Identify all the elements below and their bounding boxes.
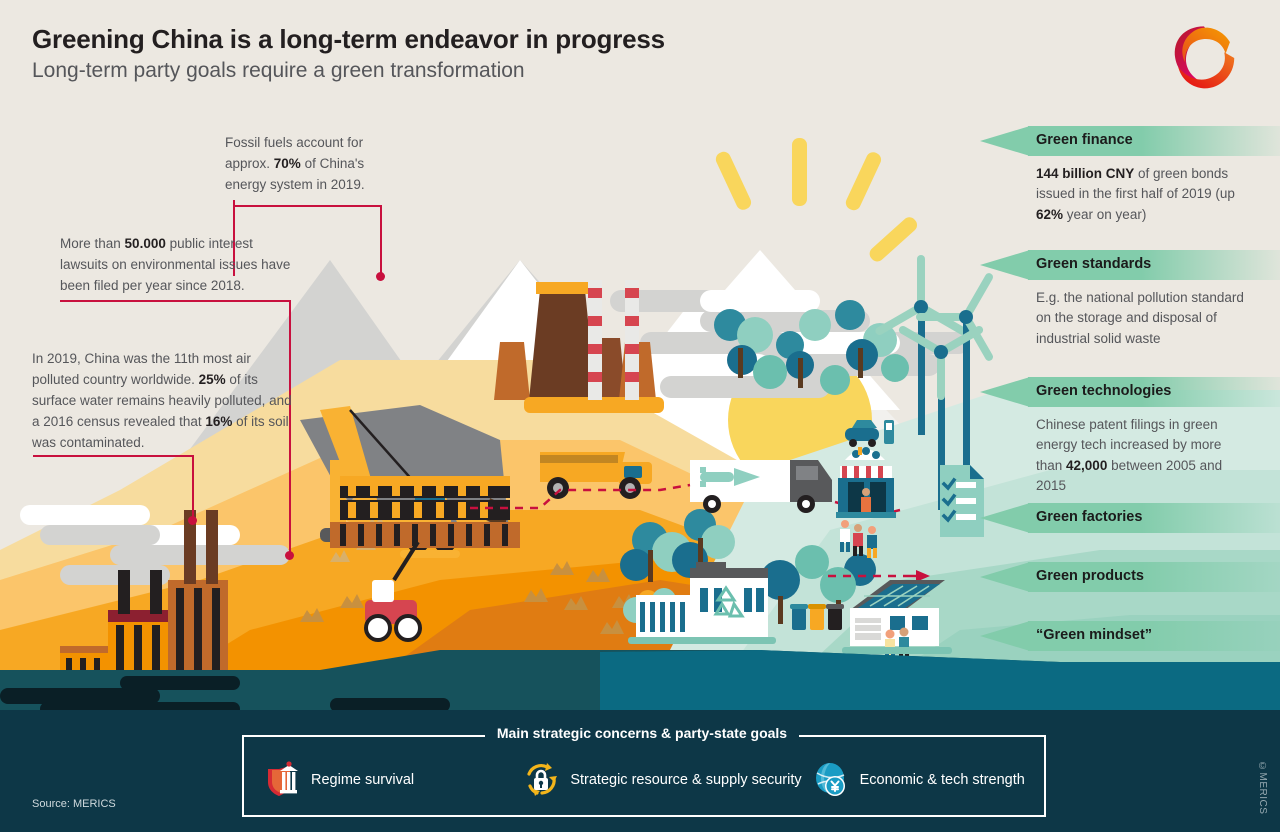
copyright-label: ©MERICS bbox=[1257, 761, 1268, 814]
panel-body: 144 billion CNY of green bonds issued in… bbox=[1036, 164, 1248, 225]
panel-green-factories[interactable]: Green factories bbox=[980, 503, 1280, 533]
leader-dot-3 bbox=[188, 516, 197, 525]
leader-line-1c bbox=[380, 205, 382, 277]
legend-item-resource-security[interactable]: Strategic resource & supply security bbox=[521, 760, 810, 800]
lock-recycle-icon bbox=[521, 760, 561, 800]
leader-line-3b bbox=[192, 455, 194, 520]
legend-item-regime-survival[interactable]: Regime survival bbox=[262, 760, 521, 800]
callout-fossil-fuels: Fossil fuels account for approx. 70% of … bbox=[225, 133, 405, 196]
arrow-head-icon bbox=[980, 562, 1030, 592]
page-subtitle: Long-term party goals require a green tr… bbox=[32, 59, 665, 83]
leader-line-3 bbox=[33, 455, 193, 457]
panel-green-standards[interactable]: Green standards E.g. the national pollut… bbox=[980, 250, 1280, 349]
arrow-head-icon bbox=[980, 250, 1030, 280]
panel-title: Green finance bbox=[1036, 132, 1133, 148]
leader-line-1b bbox=[233, 205, 381, 207]
infographic-root: Greening China is a long-term endeavor i… bbox=[0, 0, 1280, 832]
panel-arrow: Green factories bbox=[980, 503, 1280, 533]
checklist-icon bbox=[940, 465, 984, 537]
legend-label: Strategic resource & supply security bbox=[570, 772, 801, 788]
leader-dot-2 bbox=[285, 551, 294, 560]
legend-item-economic-strength[interactable]: Economic & tech strength bbox=[811, 760, 1040, 800]
page-title: Greening China is a long-term endeavor i… bbox=[32, 24, 665, 55]
panel-green-mindset[interactable]: “Green mindset” bbox=[980, 621, 1280, 651]
shield-pillar-icon bbox=[262, 760, 302, 800]
panel-green-technologies[interactable]: Green technologies Chinese patent filing… bbox=[980, 377, 1280, 496]
panel-title: “Green mindset” bbox=[1036, 627, 1152, 643]
callout-lawsuits: More than 50.000 public interest lawsuit… bbox=[60, 234, 300, 297]
legend-label: Economic & tech strength bbox=[860, 772, 1025, 788]
arrow-head-icon bbox=[980, 126, 1030, 156]
panel-arrow: “Green mindset” bbox=[980, 621, 1280, 651]
callout-pollution: In 2019, China was the 11th most air pol… bbox=[32, 349, 294, 454]
header: Greening China is a long-term endeavor i… bbox=[32, 24, 665, 83]
recycling-bins bbox=[790, 604, 844, 630]
leader-line-2 bbox=[60, 300, 290, 302]
panel-arrow: Green technologies bbox=[980, 377, 1280, 407]
source-label: Source: MERICS bbox=[32, 798, 116, 810]
cargo-containers bbox=[330, 476, 520, 548]
legend-label: Regime survival bbox=[311, 772, 414, 788]
panel-green-finance[interactable]: Green finance 144 billion CNY of green b… bbox=[980, 126, 1280, 225]
globe-yuan-icon bbox=[811, 760, 851, 800]
panel-body: Chinese patent filings in green energy t… bbox=[1036, 415, 1248, 496]
arrow-head-icon bbox=[980, 503, 1030, 533]
panel-title: Green technologies bbox=[1036, 383, 1171, 399]
panel-title: Green factories bbox=[1036, 509, 1142, 525]
panel-arrow: Green products bbox=[980, 562, 1280, 592]
panel-title: Green products bbox=[1036, 568, 1144, 584]
panel-green-products[interactable]: Green products bbox=[980, 562, 1280, 592]
panel-body: E.g. the national pollution standard on … bbox=[1036, 288, 1248, 349]
panel-arrow: Green finance bbox=[980, 126, 1280, 156]
arrow-head-icon bbox=[980, 621, 1030, 651]
panel-arrow: Green standards bbox=[980, 250, 1280, 280]
arrow-head-icon bbox=[980, 377, 1030, 407]
legend-title: Main strategic concerns & party-state go… bbox=[242, 725, 1042, 743]
panel-title: Green standards bbox=[1036, 256, 1151, 272]
legend-items: Regime survival Strategic resource & sup… bbox=[244, 750, 1040, 810]
green-panels: Green finance 144 billion CNY of green b… bbox=[980, 0, 1280, 700]
